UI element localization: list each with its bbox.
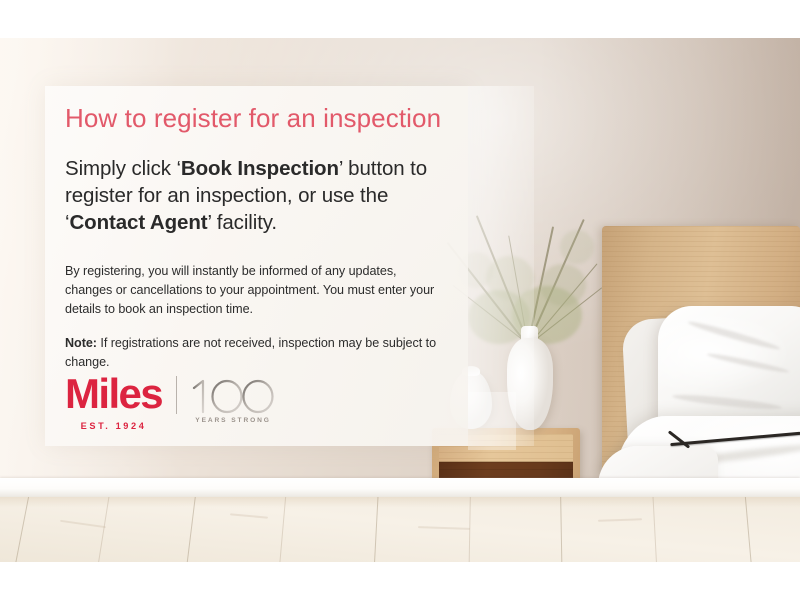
note-prefix: Note:	[65, 336, 97, 350]
floor-plank-seam	[185, 497, 197, 562]
info-panel: How to register for an inspection Simply…	[45, 86, 468, 446]
contact-agent-label: Contact Agent	[69, 211, 207, 234]
instruction-part-3: ’ facility.	[208, 211, 278, 234]
floor-grain	[230, 513, 268, 518]
panel-translucent-extension-lower	[468, 392, 516, 450]
letterbox-top	[0, 0, 800, 38]
floor-plank-seam	[278, 497, 287, 562]
note-text: If registrations are not received, inspe…	[65, 336, 436, 369]
miles-logo: Miles EST. 1924	[65, 374, 276, 431]
floor-plank-seam	[560, 497, 563, 562]
registration-info-text: By registering, you will instantly be in…	[65, 264, 434, 316]
centenary-emblem: YEARS STRONG	[190, 374, 276, 424]
note-paragraph: Note: If registrations are not received,…	[65, 334, 444, 372]
leaf-cluster	[540, 264, 586, 306]
logo-wordmark-block: Miles EST. 1924	[65, 374, 162, 431]
registration-info-paragraph: By registering, you will instantly be in…	[65, 262, 444, 319]
instruction-text: Simply click ‘Book Inspection’ button to…	[65, 155, 444, 236]
letterbox-bottom	[0, 562, 800, 600]
leaf-cluster	[560, 230, 594, 264]
floor-grain	[60, 520, 106, 528]
floor-grain	[418, 526, 470, 530]
logo-wordmark: Miles	[65, 374, 162, 414]
wooden-floor	[0, 497, 800, 562]
page-title: How to register for an inspection	[65, 104, 444, 133]
pillow-crease	[706, 351, 789, 374]
pillow-crease	[687, 319, 781, 352]
marketing-banner: How to register for an inspection Simply…	[0, 0, 800, 600]
floor-plank-seam	[744, 497, 753, 562]
pillow-crease	[672, 392, 782, 411]
book-inspection-label: Book Inspection	[181, 157, 339, 180]
centenary-100-icon	[190, 375, 276, 415]
centenary-tagline: YEARS STRONG	[190, 417, 276, 424]
logo-divider	[176, 376, 177, 414]
floor-grain	[598, 518, 642, 522]
floor-plank-seam	[373, 497, 379, 562]
instruction-part-1: Simply click ‘	[65, 157, 181, 180]
floor-plank-seam	[652, 497, 658, 562]
floor-plank-seam	[96, 497, 111, 562]
logo-established-text: EST. 1924	[65, 421, 162, 431]
floor-plank-seam	[13, 497, 31, 562]
